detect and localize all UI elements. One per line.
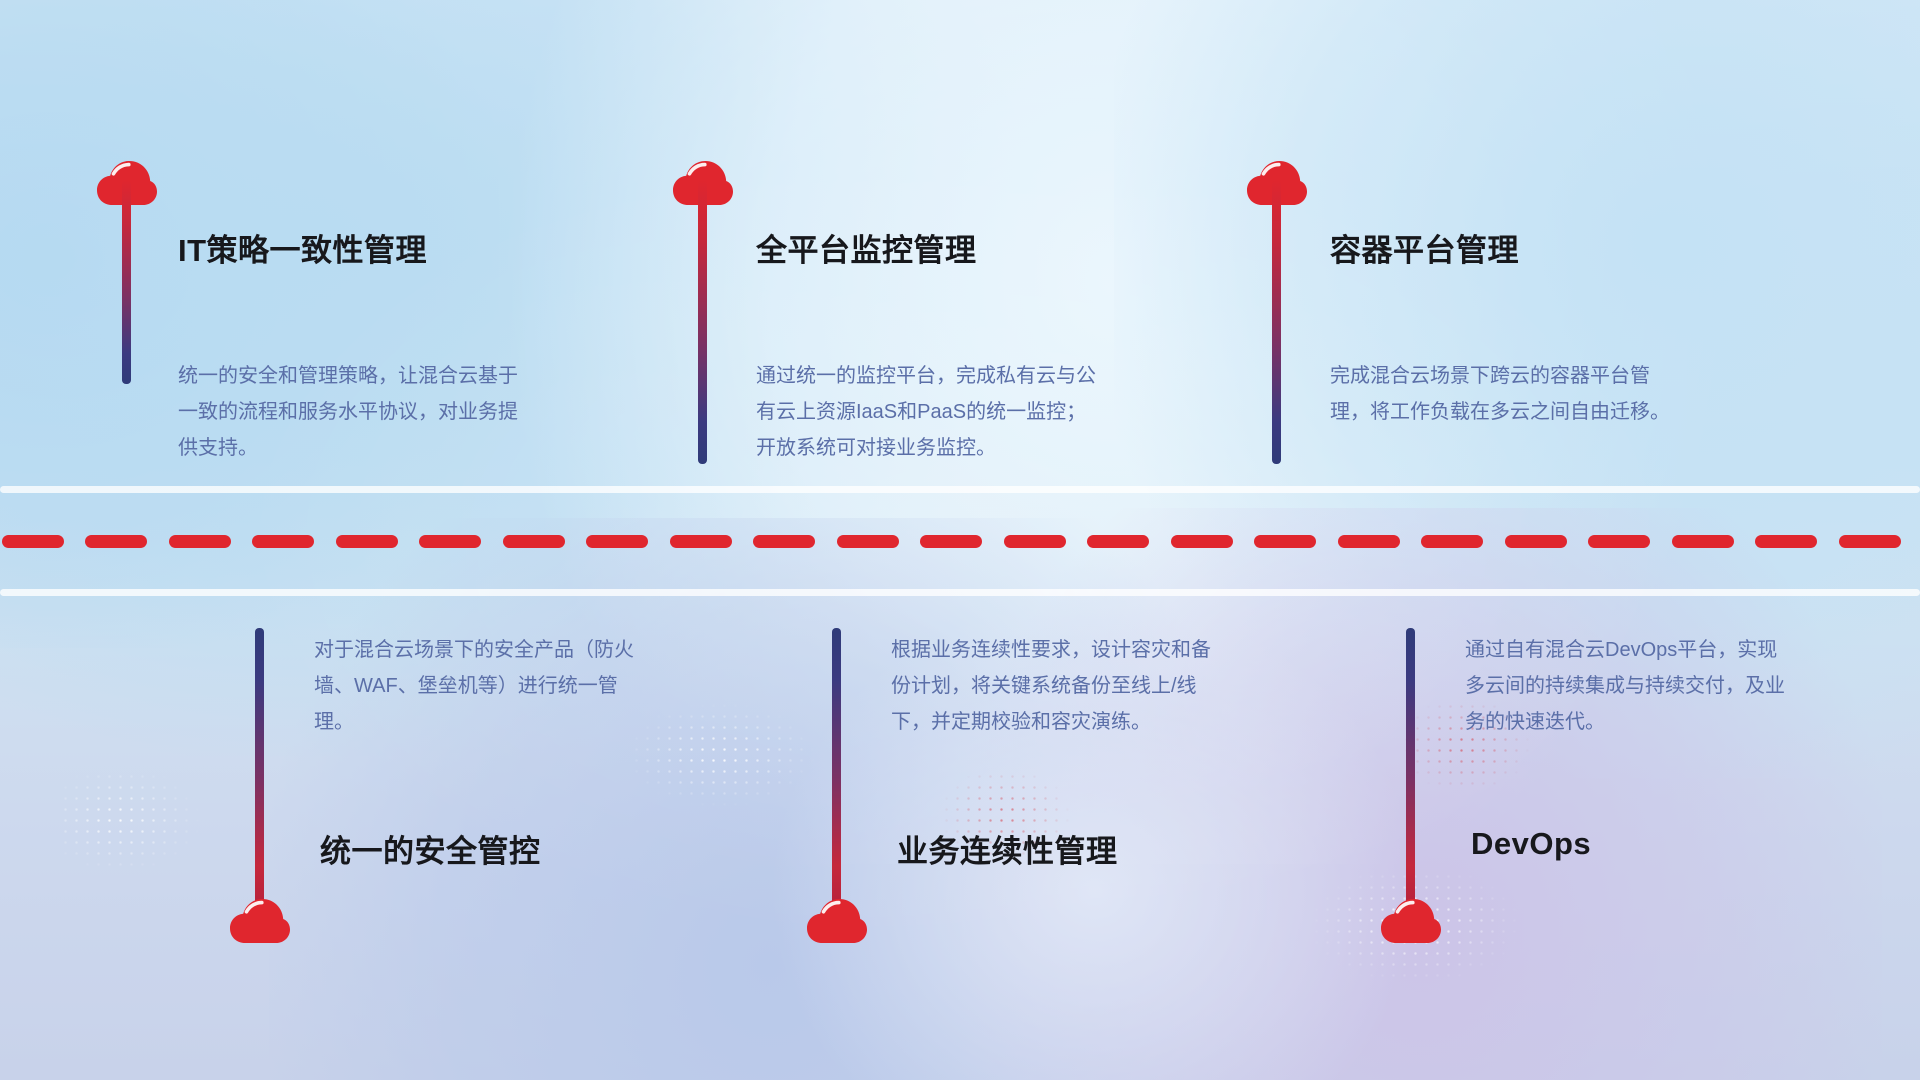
road-dash bbox=[1672, 535, 1734, 548]
feature-heading: 全平台监控管理 bbox=[756, 225, 977, 270]
road-dash bbox=[1588, 535, 1650, 548]
connector-stem bbox=[255, 628, 264, 918]
cloud-icon bbox=[1380, 898, 1442, 944]
feature-heading: 统一的安全管控 bbox=[320, 826, 541, 871]
cloud-icon bbox=[229, 898, 291, 944]
road-dash bbox=[1505, 535, 1567, 548]
road-dash bbox=[1004, 535, 1066, 548]
feature-heading: IT策略一致性管理 bbox=[178, 225, 427, 270]
feature-heading: 业务连续性管理 bbox=[897, 826, 1118, 871]
road-dash bbox=[1755, 535, 1817, 548]
feature-description: 通过自有混合云DevOps平台，实现多云间的持续集成与持续交付，及业务的快速迭代… bbox=[1465, 632, 1795, 740]
feature-heading: DevOps bbox=[1471, 826, 1591, 862]
road-dash bbox=[419, 535, 481, 548]
feature-description: 根据业务连续性要求，设计容灾和备份计划，将关键系统备份至线上/线下，并定期校验和… bbox=[891, 632, 1221, 740]
road-dash bbox=[837, 535, 899, 548]
road-dash bbox=[586, 535, 648, 548]
road-dash bbox=[1171, 535, 1233, 548]
road-dash bbox=[252, 535, 314, 548]
connector-stem bbox=[1272, 180, 1281, 464]
road-dash bbox=[1087, 535, 1149, 548]
feature-description: 通过统一的监控平台，完成私有云与公有云上资源IaaS和PaaS的统一监控；开放系… bbox=[756, 358, 1096, 466]
road-dash bbox=[85, 535, 147, 548]
dashed-road-divider bbox=[0, 486, 1920, 596]
road-edge-line-bottom bbox=[0, 589, 1920, 596]
road-dash bbox=[1421, 535, 1483, 548]
road-dash bbox=[1338, 535, 1400, 548]
connector-stem bbox=[832, 628, 841, 918]
road-dash bbox=[670, 535, 732, 548]
feature-description: 完成混合云场景下跨云的容器平台管理，将工作负载在多云之间自由迁移。 bbox=[1330, 358, 1670, 430]
feature-heading: 容器平台管理 bbox=[1330, 225, 1519, 270]
connector-stem bbox=[122, 180, 131, 384]
road-dash bbox=[1839, 535, 1901, 548]
road-dash-row bbox=[0, 535, 1920, 548]
connector-stem bbox=[1406, 628, 1415, 918]
road-dash bbox=[336, 535, 398, 548]
road-dash bbox=[169, 535, 231, 548]
feature-description: 统一的安全和管理策略，让混合云基于一致的流程和服务水平协议，对业务提供支持。 bbox=[178, 358, 518, 466]
connector-stem bbox=[698, 180, 707, 464]
road-dash bbox=[753, 535, 815, 548]
decorative-dot-pattern bbox=[60, 760, 210, 880]
road-dash bbox=[2, 535, 64, 548]
feature-description: 对于混合云场景下的安全产品（防火墙、WAF、堡垒机等）进行统一管理。 bbox=[314, 632, 644, 740]
decorative-dot-pattern bbox=[620, 700, 820, 810]
road-dash bbox=[920, 535, 982, 548]
road-edge-line-top bbox=[0, 486, 1920, 493]
cloud-icon bbox=[806, 898, 868, 944]
road-dash bbox=[503, 535, 565, 548]
road-dash bbox=[1254, 535, 1316, 548]
